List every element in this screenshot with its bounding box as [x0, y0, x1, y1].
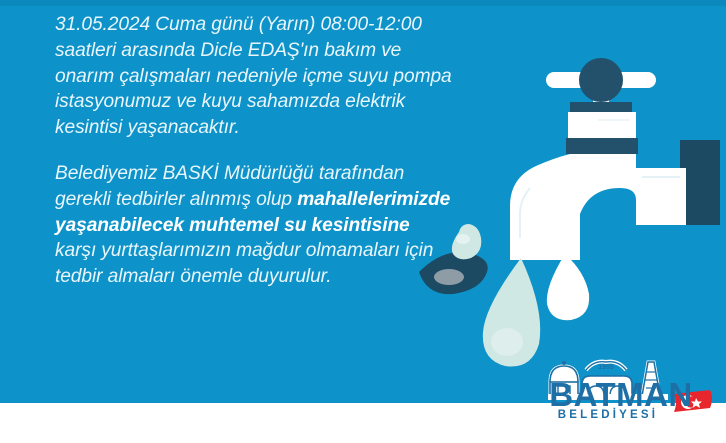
paragraph2-part2: karşı yurttaşlarımızın mağdur olmamaları…: [55, 240, 433, 287]
dome-finial-icon: [562, 361, 566, 365]
droplet-white: [547, 254, 589, 320]
logo-subtitle: BELEDİYESİ: [528, 409, 688, 421]
faucet-neck-highlight: [642, 176, 680, 178]
droplet-small-highlight: [456, 234, 470, 244]
droplet-large-highlight: [491, 328, 523, 356]
announcement-poster: 31.05.2024 Cuma günü (Yarın) 08:00-12:00…: [0, 0, 726, 443]
droplet-pale-teal-large: [483, 258, 540, 367]
logo-title: BATMAN: [528, 378, 714, 412]
faucet-lower-collar: [566, 138, 638, 154]
announcement-text-block: 31.05.2024 Cuma günü (Yarın) 08:00-12:00…: [55, 12, 455, 290]
batman-belediyesi-logo: 1955 BATMAN BE: [528, 352, 714, 424]
announcement-paragraph-1: 31.05.2024 Cuma günü (Yarın) 08:00-12:00…: [55, 12, 455, 141]
faucet-valve-body: [568, 112, 636, 140]
announcement-paragraph-2: Belediyemiz BASKİ Müdürlüğü tarafından g…: [55, 161, 455, 290]
emblem-year-label: 1955: [598, 364, 614, 371]
droplet-pale-teal-small: [452, 224, 481, 259]
faucet-handle-knob: [579, 58, 623, 102]
year-badge-icon: 1955: [586, 362, 626, 371]
poster-top-band: [0, 0, 726, 6]
faucet-valve-highlight: [598, 119, 630, 121]
